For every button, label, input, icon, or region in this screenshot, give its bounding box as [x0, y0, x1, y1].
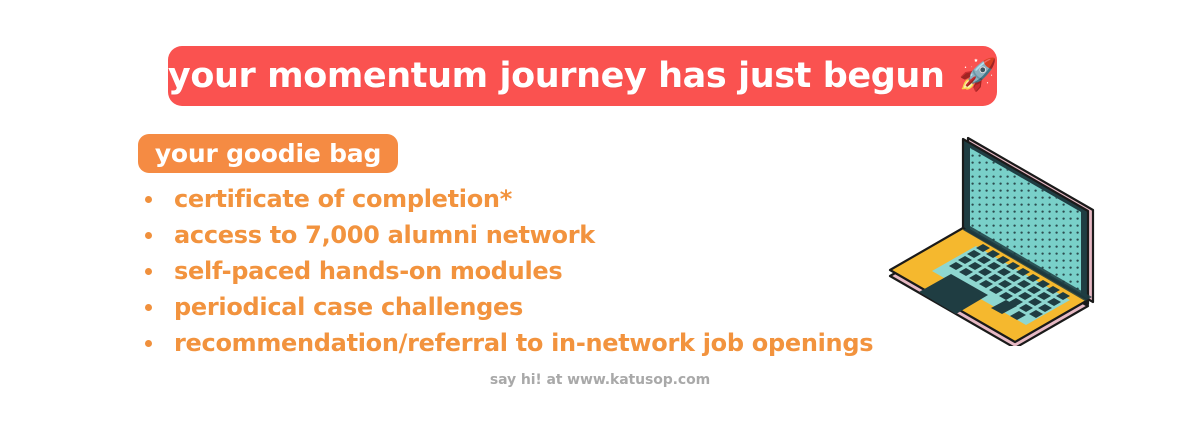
goodie-bag-list: certificate of completion* access to 7,0…	[140, 181, 873, 361]
poster-canvas: your momentum journey has just begun 🚀 y…	[0, 0, 1200, 444]
laptop-illustration	[880, 126, 1110, 346]
page-title: your momentum journey has just begun	[168, 59, 945, 94]
list-item: access to 7,000 alumni network	[140, 217, 873, 253]
list-item-label: periodical case challenges	[174, 295, 523, 319]
bullet-dot-icon	[145, 232, 152, 239]
title-banner: your momentum journey has just begun 🚀	[168, 46, 997, 106]
list-item-label: recommendation/referral to in-network jo…	[174, 331, 873, 355]
footer-contact-note: say hi! at www.katusop.com	[0, 372, 1200, 388]
laptop-icon	[880, 126, 1110, 346]
list-item-label: self-paced hands-on modules	[174, 259, 562, 283]
bullet-dot-icon	[145, 340, 152, 347]
goodie-bag-badge-label: your goodie bag	[155, 141, 381, 166]
bullet-dot-icon	[145, 304, 152, 311]
list-item: self-paced hands-on modules	[140, 253, 873, 289]
bullet-dot-icon	[145, 268, 152, 275]
list-item-label: certificate of completion*	[174, 187, 512, 211]
list-item: certificate of completion*	[140, 181, 873, 217]
bullet-dot-icon	[145, 196, 152, 203]
goodie-bag-badge: your goodie bag	[138, 134, 398, 173]
list-item-label: access to 7,000 alumni network	[174, 223, 595, 247]
rocket-icon: 🚀	[958, 60, 997, 91]
list-item: periodical case challenges	[140, 289, 873, 325]
list-item: recommendation/referral to in-network jo…	[140, 325, 873, 361]
